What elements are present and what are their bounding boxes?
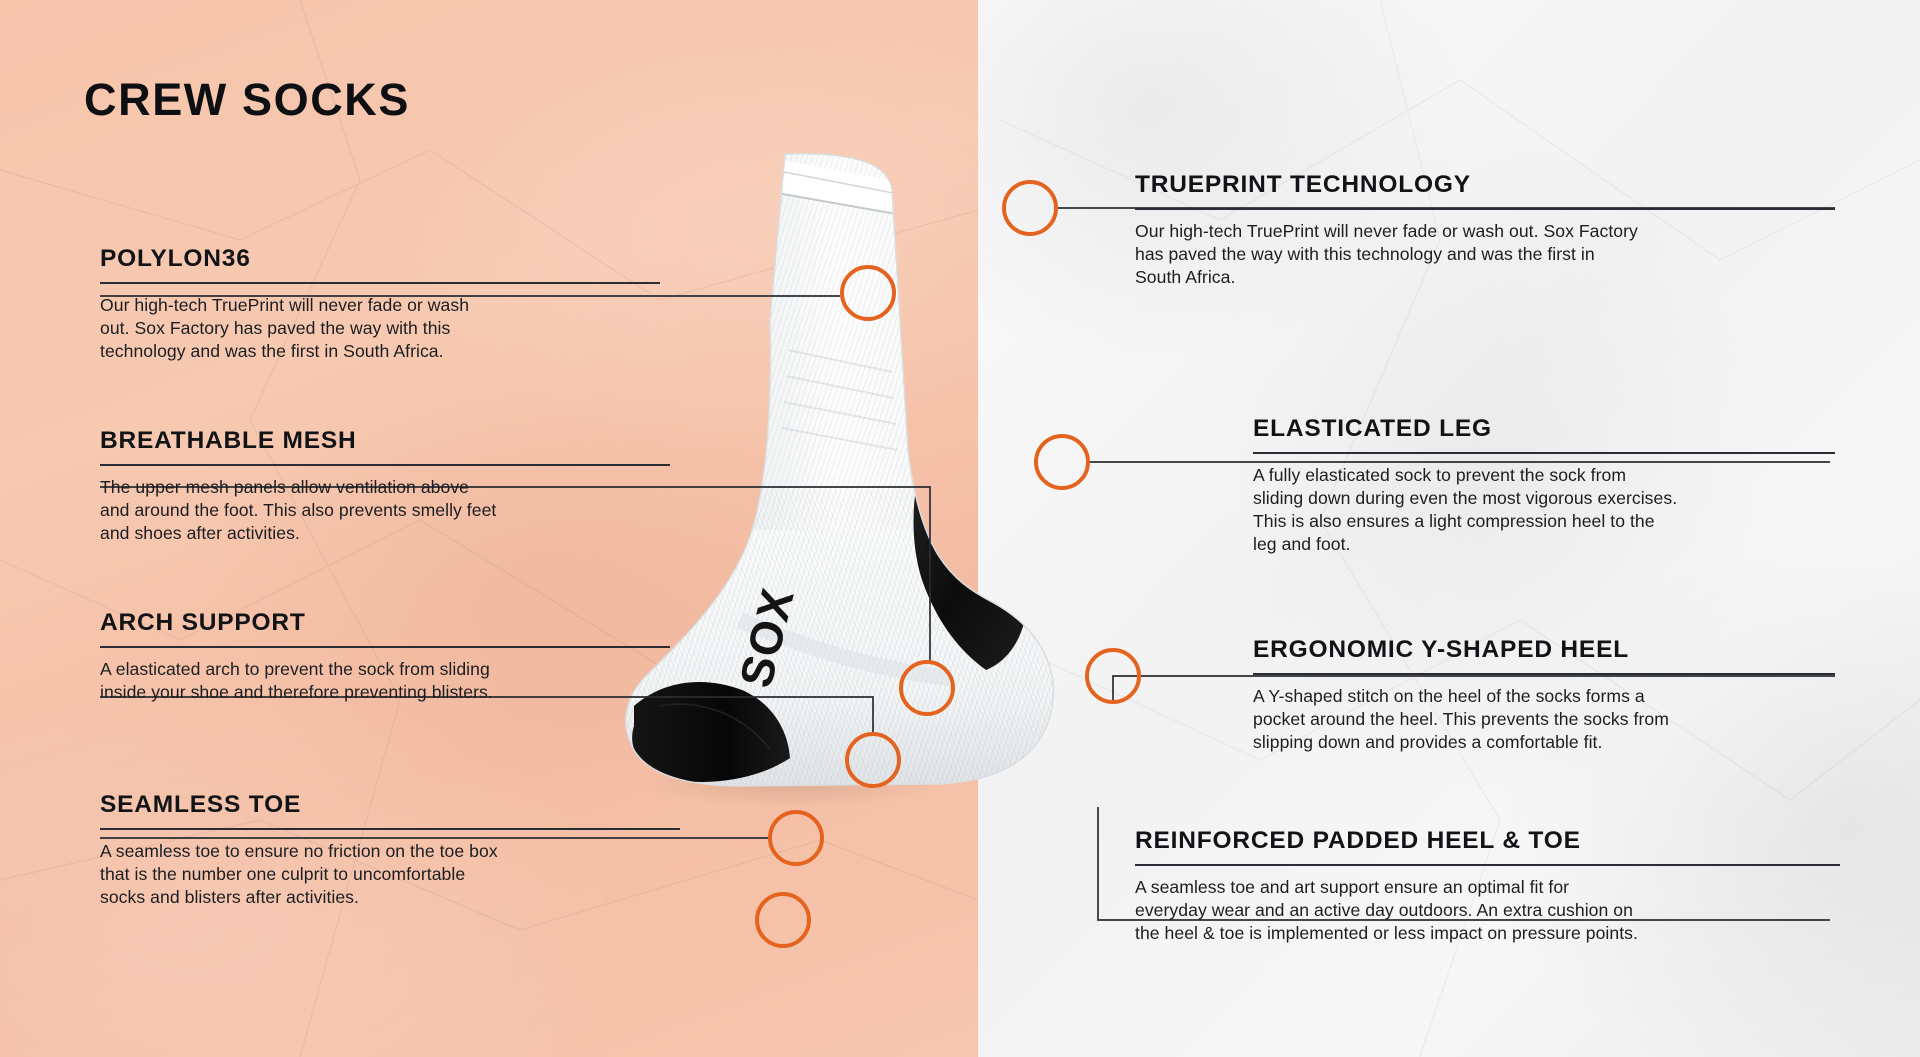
padded-heel-toe-marker[interactable] — [755, 892, 811, 948]
feature-body: A elasticated arch to prevent the sock f… — [100, 658, 670, 704]
feature-body: A seamless toe and art support ensure an… — [1135, 876, 1840, 945]
feature-heading: POLYLON36 — [100, 246, 660, 273]
feature-body: A Y-shaped stitch on the heel of the soc… — [1253, 685, 1835, 754]
feature-heading: ELASTICATED LEG — [1253, 416, 1835, 443]
trueprint-marker[interactable] — [1002, 180, 1058, 236]
feature-heading: ARCH SUPPORT — [100, 610, 670, 637]
polylon36-marker[interactable] — [840, 265, 896, 321]
feature-arch-support: ARCH SUPPORT A elasticated arch to preve… — [100, 610, 670, 704]
heading-rule — [100, 646, 670, 648]
heading-rule — [1253, 673, 1835, 675]
elasticated-leg-marker[interactable] — [1034, 434, 1090, 490]
heading-rule — [1253, 452, 1835, 454]
feature-body: A fully elasticated sock to prevent the … — [1253, 464, 1835, 556]
feature-body: Our high-tech TruePrint will never fade … — [100, 294, 660, 363]
feature-heading: BREATHABLE MESH — [100, 428, 670, 455]
heading-rule — [1135, 864, 1840, 866]
heading-rule — [100, 828, 680, 830]
feature-heading: TRUEPRINT TECHNOLOGY — [1135, 172, 1835, 199]
feature-body: Our high-tech TruePrint will never fade … — [1135, 220, 1835, 289]
heading-rule — [100, 464, 670, 466]
feature-breathable-mesh: BREATHABLE MESH The upper mesh panels al… — [100, 428, 670, 545]
heading-rule — [100, 282, 660, 284]
seamless-toe-marker[interactable] — [768, 810, 824, 866]
feature-elasticated-leg: ELASTICATED LEG A fully elasticated sock… — [1253, 416, 1835, 556]
infographic-canvas: SOX — [0, 0, 1920, 1057]
feature-body: The upper mesh panels allow ventilation … — [100, 476, 670, 545]
feature-polylon36: POLYLON36 Our high-tech TruePrint will n… — [100, 246, 660, 363]
breathable-mesh-marker[interactable] — [899, 660, 955, 716]
heading-rule — [1135, 208, 1835, 210]
feature-seamless-toe: SEAMLESS TOE A seamless toe to ensure no… — [100, 792, 680, 909]
feature-reinforced-padded-heel-toe: REINFORCED PADDED HEEL & TOE A seamless … — [1135, 828, 1840, 945]
feature-heading: ERGONOMIC Y-SHAPED HEEL — [1253, 637, 1835, 664]
y-shaped-heel-marker[interactable] — [1085, 648, 1141, 704]
feature-trueprint-technology: TRUEPRINT TECHNOLOGY Our high-tech TrueP… — [1135, 172, 1835, 289]
feature-body: A seamless toe to ensure no friction on … — [100, 840, 680, 909]
feature-ergonomic-y-shaped-heel: ERGONOMIC Y-SHAPED HEEL A Y-shaped stitc… — [1253, 637, 1835, 754]
arch-support-marker[interactable] — [845, 732, 901, 788]
feature-heading: SEAMLESS TOE — [100, 792, 680, 819]
feature-heading: REINFORCED PADDED HEEL & TOE — [1135, 828, 1840, 855]
page-title: CREW SOCKS — [84, 74, 410, 126]
